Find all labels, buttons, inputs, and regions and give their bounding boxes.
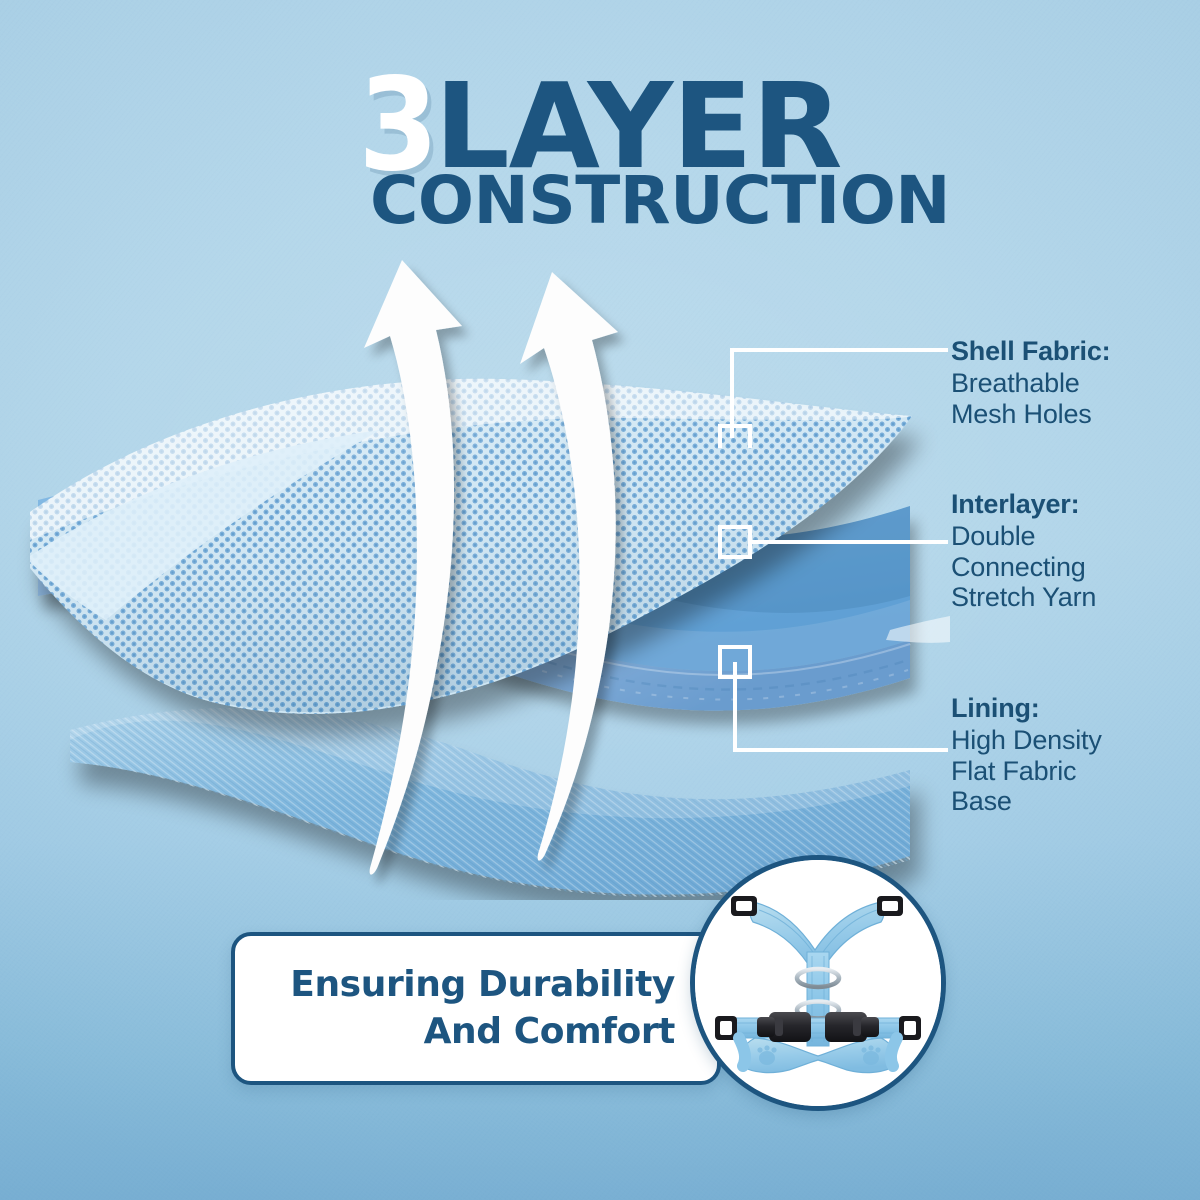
callout-interlayer-line-2: Connecting [951, 552, 1096, 583]
callout-shell-line-1: Breathable [951, 368, 1110, 399]
callout-lining-line-2: Flat Fabric [951, 756, 1102, 787]
callout-lining-heading: Lining: [951, 693, 1102, 724]
caption-text: Ensuring Durability And Comfort [290, 962, 675, 1054]
dog-harness-illustration [695, 860, 941, 1106]
callout-shell-fabric: Shell Fabric: Breathable Mesh Holes [951, 336, 1110, 429]
product-photo-circle [690, 855, 946, 1111]
callout-lining-line-3: Base [951, 786, 1102, 817]
caption-line-1: Ensuring Durability [290, 962, 675, 1008]
page-title: 3LAYER CONSTRUCTION [0, 62, 1200, 234]
callout-interlayer-line-3: Stretch Yarn [951, 582, 1096, 613]
caption-box: Ensuring Durability And Comfort [231, 932, 721, 1085]
callout-lining-line-1: High Density [951, 725, 1102, 756]
infographic-canvas: 3LAYER CONSTRUCTION [0, 0, 1200, 1200]
callout-interlayer: Interlayer: Double Connecting Stretch Ya… [951, 489, 1096, 613]
callout-shell-heading: Shell Fabric: [951, 336, 1110, 367]
callout-interlayer-heading: Interlayer: [951, 489, 1096, 520]
caption-line-2: And Comfort [290, 1009, 675, 1055]
fabric-layers-illustration [10, 300, 950, 900]
callout-shell-line-2: Mesh Holes [951, 399, 1110, 430]
callout-interlayer-body: Double Connecting Stretch Yarn [951, 521, 1096, 613]
slider-adjuster-top-right [877, 896, 903, 916]
callout-shell-body: Breathable Mesh Holes [951, 368, 1110, 430]
callout-lining: Lining: High Density Flat Fabric Base [951, 693, 1102, 817]
callout-interlayer-line-1: Double [951, 521, 1096, 552]
title-word-construction: CONSTRUCTION [0, 168, 1200, 234]
slider-adjuster-top-left [731, 896, 757, 916]
callout-lining-body: High Density Flat Fabric Base [951, 725, 1102, 817]
